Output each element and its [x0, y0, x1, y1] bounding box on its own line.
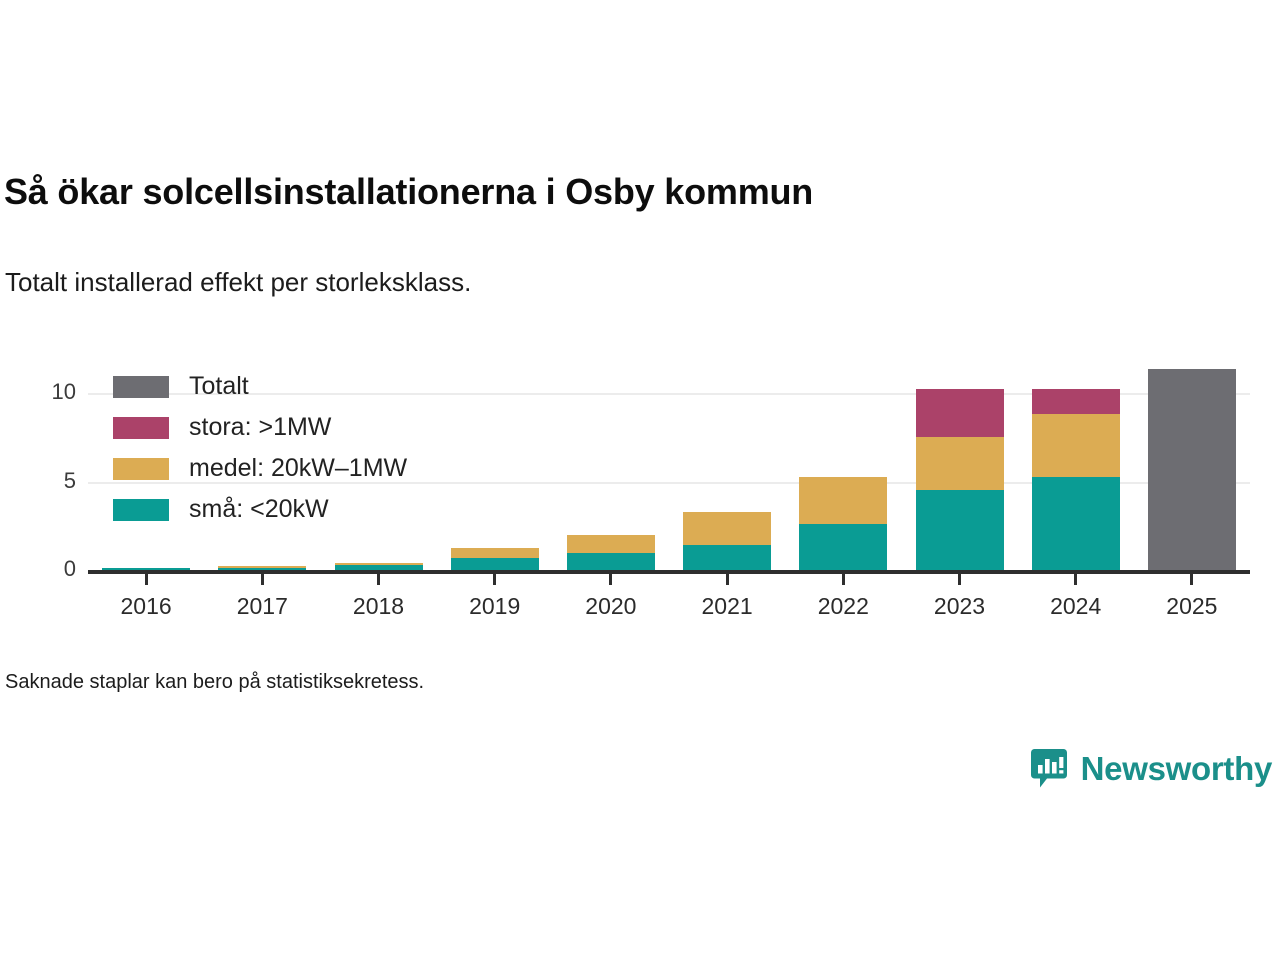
legend-swatch-stora: [113, 417, 169, 439]
bar-segment-2020-små[interactable]: [567, 553, 655, 570]
bar-segment-2022-små[interactable]: [799, 524, 887, 570]
x-axis-tick-mark-2024: [1074, 571, 1077, 585]
brand-logo: Newsworthy: [1028, 748, 1272, 790]
bar-segment-2016-små[interactable]: [102, 568, 190, 570]
bar-2020[interactable]: [567, 535, 655, 570]
bar-2022[interactable]: [799, 477, 887, 570]
bar-segment-2020-medel[interactable]: [567, 535, 655, 554]
bar-segment-2019-små[interactable]: [451, 558, 539, 570]
x-axis-label-2024: 2024: [1016, 593, 1136, 620]
bar-2019[interactable]: [451, 548, 539, 570]
legend-item-2[interactable]: medel: 20kW–1MW: [113, 448, 407, 489]
chart-page: Så ökar solcellsinstallationerna i Osby …: [0, 0, 1280, 960]
bar-segment-2018-små[interactable]: [335, 565, 423, 570]
bar-segment-2022-medel[interactable]: [799, 477, 887, 524]
x-axis-label-2025: 2025: [1132, 593, 1252, 620]
bar-2024[interactable]: [1032, 389, 1120, 570]
bar-segment-2021-medel[interactable]: [683, 512, 771, 546]
x-axis-label-2020: 2020: [551, 593, 671, 620]
legend-item-3[interactable]: små: <20kW: [113, 489, 407, 530]
bar-segment-2017-små[interactable]: [218, 568, 306, 570]
bar-2023[interactable]: [916, 389, 1004, 570]
legend-swatch-medel: [113, 458, 169, 480]
legend-label-3: små: <20kW: [189, 495, 329, 524]
bar-2016[interactable]: [102, 568, 190, 570]
footnote: Saknade staplar kan bero på statistiksek…: [5, 671, 424, 694]
bar-segment-2024-små[interactable]: [1032, 477, 1120, 570]
bar-2021[interactable]: [683, 512, 771, 570]
x-axis-tick-mark-2019: [493, 571, 496, 585]
brand-name: Newsworthy: [1081, 750, 1272, 788]
x-axis-tick-mark-2018: [377, 571, 380, 585]
bar-segment-2024-stora[interactable]: [1032, 389, 1120, 414]
x-axis-label-2021: 2021: [667, 593, 787, 620]
x-axis-tick-mark-2021: [726, 571, 729, 585]
x-axis-label-2017: 2017: [202, 593, 322, 620]
x-axis-label-2016: 2016: [86, 593, 206, 620]
x-axis-label-2023: 2023: [900, 593, 1020, 620]
bar-segment-2023-stora[interactable]: [916, 389, 1004, 437]
legend-item-1[interactable]: stora: >1MW: [113, 407, 407, 448]
x-axis-label-2018: 2018: [319, 593, 439, 620]
bar-segment-2023-medel[interactable]: [916, 437, 1004, 490]
page-title: Så ökar solcellsinstallationerna i Osby …: [4, 171, 813, 213]
page-subtitle: Totalt installerad effekt per storlekskl…: [5, 267, 471, 298]
bar-2018[interactable]: [335, 563, 423, 570]
bar-segment-2024-medel[interactable]: [1032, 414, 1120, 477]
legend-swatch-sma: [113, 499, 169, 521]
bar-segment-2019-medel[interactable]: [451, 548, 539, 558]
bar-segment-2021-små[interactable]: [683, 545, 771, 570]
x-axis-tick-mark-2016: [145, 571, 148, 585]
x-axis-tick-mark-2025: [1190, 571, 1193, 585]
bar-segment-2025-Totalt[interactable]: [1148, 369, 1236, 570]
bar-2017[interactable]: [218, 566, 306, 570]
legend-label-0: Totalt: [189, 372, 249, 401]
bar-chart-logo-icon: [1028, 748, 1070, 790]
x-axis-tick-mark-2017: [261, 571, 264, 585]
legend: Totaltstora: >1MWmedel: 20kW–1MWsmå: <20…: [113, 366, 407, 530]
bar-2025[interactable]: [1148, 369, 1236, 570]
x-axis-label-2019: 2019: [435, 593, 555, 620]
legend-label-1: stora: >1MW: [189, 413, 331, 442]
x-axis-tick-mark-2023: [958, 571, 961, 585]
bar-segment-2023-små[interactable]: [916, 490, 1004, 570]
legend-swatch-totalt: [113, 376, 169, 398]
x-axis-label-2022: 2022: [783, 593, 903, 620]
legend-label-2: medel: 20kW–1MW: [189, 454, 407, 483]
legend-item-0[interactable]: Totalt: [113, 366, 407, 407]
x-axis-tick-mark-2022: [842, 571, 845, 585]
x-axis-tick-mark-2020: [609, 571, 612, 585]
